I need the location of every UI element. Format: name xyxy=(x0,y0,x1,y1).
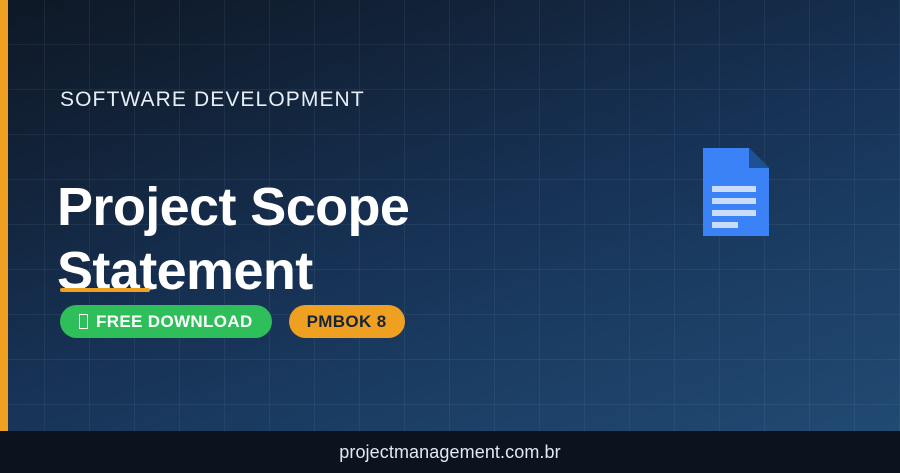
free-download-badge-label: FREE DOWNLOAD xyxy=(96,312,253,332)
left-accent-rail xyxy=(0,0,8,431)
page-title: Project Scope Statement xyxy=(57,176,527,303)
footer-bar: projectmanagement.com.br xyxy=(0,431,900,473)
social-card: SOFTWARE DEVELOPMENT Project Scope State… xyxy=(0,0,900,473)
missing-glyph-box-icon xyxy=(79,314,88,329)
site-url[interactable]: projectmanagement.com.br xyxy=(339,442,561,463)
eyebrow-category-label: SOFTWARE DEVELOPMENT xyxy=(60,88,365,112)
pmbok-version-badge-label: PMBOK 8 xyxy=(307,312,387,332)
document-icon xyxy=(703,148,769,236)
free-download-badge[interactable]: FREE DOWNLOAD xyxy=(60,305,272,338)
card-content: SOFTWARE DEVELOPMENT Project Scope State… xyxy=(60,0,680,431)
title-underline-accent xyxy=(60,288,150,292)
pmbok-version-badge[interactable]: PMBOK 8 xyxy=(289,305,405,338)
badge-row: FREE DOWNLOAD PMBOK 8 xyxy=(60,305,405,338)
